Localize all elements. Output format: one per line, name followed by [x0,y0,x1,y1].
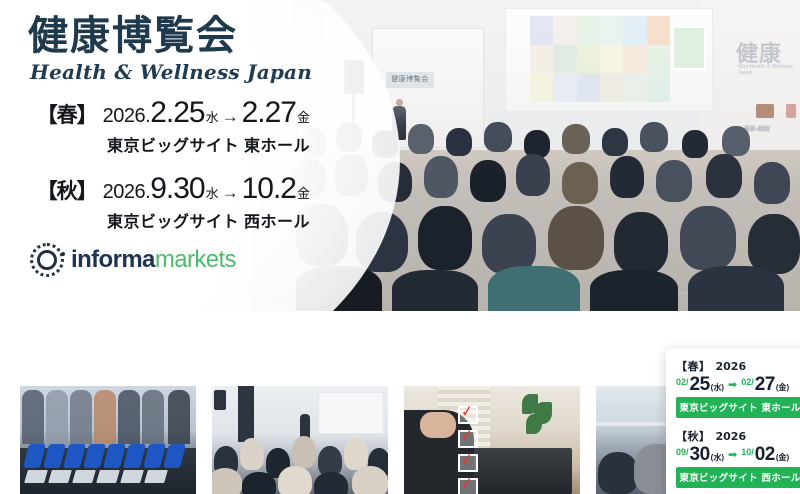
panel-spring-header: 【春】2026 [676,358,800,374]
right-sign-subtitle: 43rd Health & Wellness Japan [738,64,800,76]
hero-autumn-year: 2026. [103,181,151,204]
thumbnail-image [212,386,388,494]
thumbnail-seminar-audience[interactable] [212,386,388,494]
panel-autumn-year: 2026 [716,430,747,443]
panel-spring-start-dow: (水) [711,382,724,393]
hero-spring-venue: 東京ビッグサイト 東ホール [0,132,320,156]
organizer-name: informamarkets [71,248,236,272]
camera-icon [756,104,774,118]
panel-spring-arrow-icon: ➡ [728,380,737,391]
panel-divider [676,418,800,428]
panel-autumn-start-dow: (水) [711,452,724,463]
panel-spring-end-month: 02/ [741,377,754,387]
panel-autumn-dates: 09/ 30 (水) ➡ 10/ 02 (金) [676,446,800,463]
hero-autumn-season: 【秋】 [37,175,97,205]
hero-spring-end-dow: 金 [297,107,310,126]
hero-autumn-start: 9.30 [150,172,204,206]
thumbnail-image: ✓ ✓ ✓ ✓ [404,386,580,494]
hero-spring-start: 2.25 [150,96,204,130]
hero-spring-dates: 【春】 2026. 2.25 水 → 2.27 金 東京ビッグサイト 東ホール [0,96,320,156]
thumbnail-registration-lanyards[interactable] [20,386,196,494]
hero-autumn-end: 10.2 [242,172,296,206]
no-photo-icon [786,104,796,118]
panel-autumn-end: 10/ 02 (金) [741,446,789,463]
panel-spring-venue-badge: 東京ビッグサイト 東ホール [676,397,800,418]
hero-autumn-arrow-icon: → [222,183,239,203]
hero-spring-arrow-icon: → [222,107,239,127]
right-sign-caption: 撮影・録画 [744,124,800,133]
hero-spring-season: 【春】 [37,99,97,129]
panel-spring-end-day: 27 [755,376,775,393]
informa-mark-icon [30,243,64,277]
organizer-name-primary: informa [71,246,155,273]
right-sign-title: 健康 [736,36,798,66]
organizer-logo: informamarkets [30,243,236,277]
hero-autumn-dates: 【秋】 2026. 9.30 水 → 10.2 金 東京ビッグサイト 西ホール [0,172,320,232]
panel-spring-start-day: 25 [690,376,710,393]
panel-spring-end-dow: (金) [776,382,789,393]
booth-sign: 健康博覧会 [386,72,434,88]
panel-autumn-start-month: 09/ [676,447,689,457]
page-root: 健康博覧会 [0,0,800,494]
panel-spring-season: 【春】 [676,360,711,373]
hero-autumn-date-line: 【秋】 2026. 9.30 水 → 10.2 金 [0,172,320,206]
hero-autumn-start-dow: 水 [206,183,219,202]
projection-logo [672,26,706,70]
hero-banner: 健康博覧会 [0,0,800,311]
panel-autumn-season: 【秋】 [676,430,711,443]
hero-spring-end: 2.27 [242,96,296,130]
event-logo-en: Health & Wellness Japan [30,60,312,84]
floating-date-panel[interactable]: 【春】2026 02/ 25 (水) ➡ 02/ 27 (金) 東京ビッグサイト… [666,348,800,494]
panel-spring-dates: 02/ 25 (水) ➡ 02/ 27 (金) [676,376,800,393]
hero-text-block: 健康博覧会 Health & Wellness Japan 【春】 2026. … [0,0,340,311]
hero-spring-start-dow: 水 [206,107,219,126]
panel-autumn-end-day: 02 [755,446,775,463]
projection-grid [530,16,670,102]
thumbnail-checklist-laptop[interactable]: ✓ ✓ ✓ ✓ [404,386,580,494]
panel-autumn-end-month: 10/ [741,447,754,457]
hero-spring-year: 2026. [103,105,151,128]
checklist-icon: ✓ ✓ ✓ ✓ [458,406,492,492]
panel-autumn-start: 09/ 30 (水) [676,446,724,463]
event-logo-jp: 健康博覧会 [28,14,238,58]
panel-spring-year: 2026 [716,360,747,373]
panel-autumn-start-day: 30 [690,446,710,463]
thumbnail-image [20,386,196,494]
panel-spring-start-month: 02/ [676,377,689,387]
hero-spring-date-line: 【春】 2026. 2.25 水 → 2.27 金 [0,96,320,130]
hero-autumn-venue: 東京ビッグサイト 西ホール [0,208,320,232]
panel-autumn-arrow-icon: ➡ [728,450,737,461]
panel-spring-end: 02/ 27 (金) [741,376,789,393]
panel-autumn-end-dow: (金) [776,452,789,463]
panel-autumn-venue-badge: 東京ビッグサイト 西ホール [676,467,800,488]
organizer-name-secondary: markets [155,246,236,273]
hero-autumn-end-dow: 金 [297,183,310,202]
panel-autumn-header: 【秋】2026 [676,428,800,444]
panel-spring-start: 02/ 25 (水) [676,376,724,393]
booth-sign-text: 健康博覧会 [391,76,429,83]
